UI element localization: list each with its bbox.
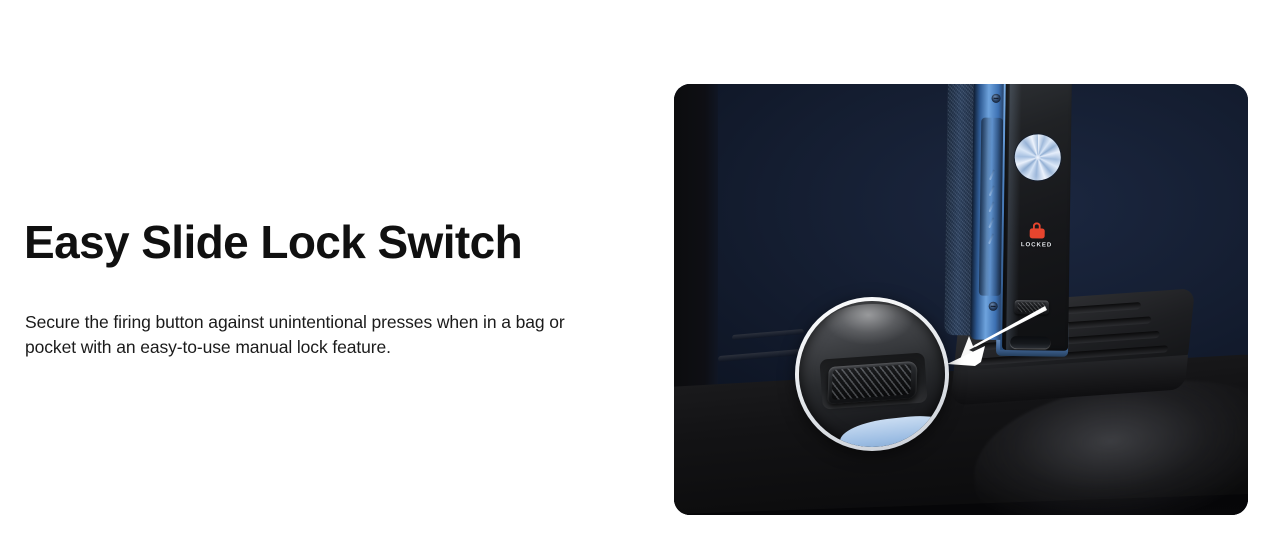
lock-status-label: LOCKED [1013, 242, 1059, 249]
dial-center [1035, 154, 1041, 160]
magnified-slide-lock-switch [828, 361, 918, 404]
page-title: Easy Slide Lock Switch [24, 216, 522, 269]
product-image-panel: LOCKED [674, 84, 1248, 515]
lens-highlight [822, 304, 924, 354]
text-column: Easy Slide Lock Switch Secure the firing… [24, 0, 624, 560]
magnified-device-base [838, 412, 945, 447]
magnifier-callout [795, 297, 949, 451]
padlock-locked-icon [1029, 222, 1044, 238]
lock-status-group: LOCKED [1013, 222, 1059, 249]
feature-banner: Easy Slide Lock Switch Secure the firing… [0, 0, 1263, 560]
device-screw [992, 94, 1001, 103]
feature-description: Secure the firing button against uninten… [25, 310, 600, 360]
magnifier-lens [799, 301, 945, 447]
